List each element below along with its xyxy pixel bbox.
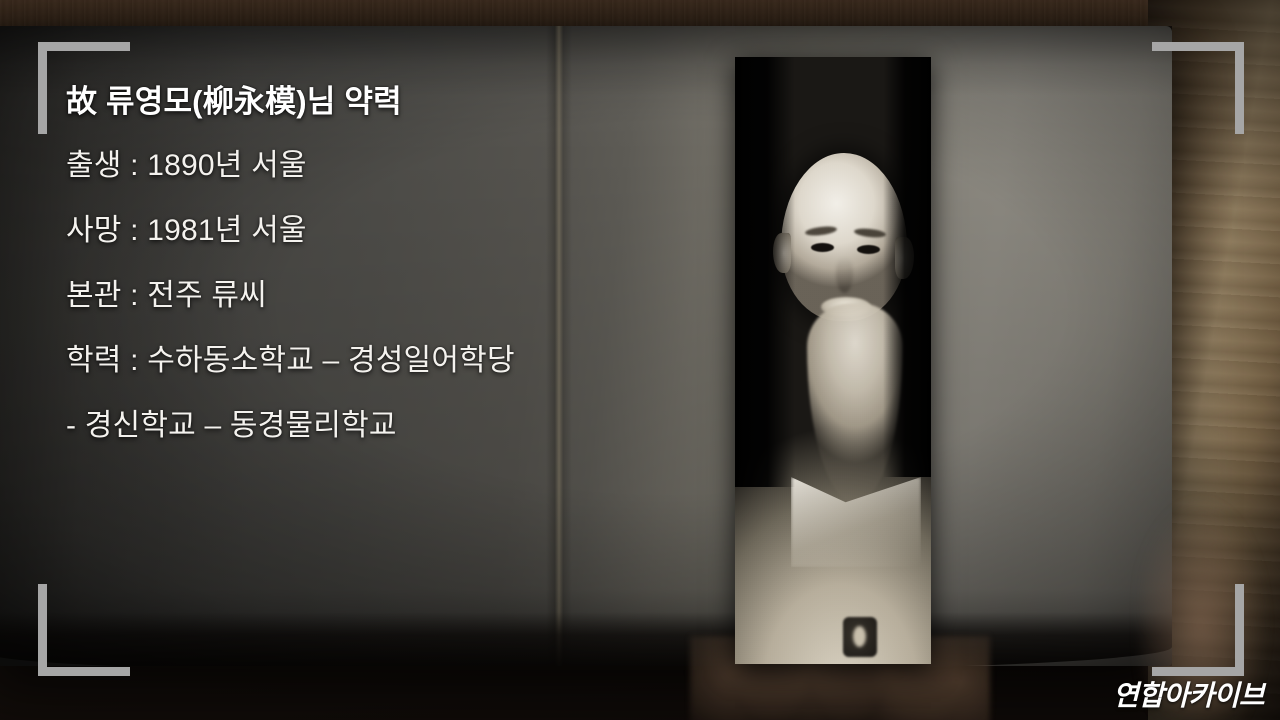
corner-bracket-top-left (38, 42, 130, 134)
corner-bracket-bottom-left (38, 584, 130, 676)
info-line-clan-origin: 본관 : 전주 류씨 (66, 270, 726, 314)
bracket-vertical-bar (38, 584, 47, 676)
corner-bracket-top-right (1152, 42, 1244, 134)
portrait-photo-body (735, 57, 931, 664)
bracket-horizontal-bar (1152, 42, 1244, 51)
bracket-vertical-bar (38, 42, 47, 134)
archive-watermark: 연합아카이브 (1113, 674, 1264, 714)
info-line-education: 학력 : 수하동소학교 – 경성일어학당 (66, 335, 726, 379)
bracket-horizontal-bar (38, 667, 130, 676)
portrait-photo (735, 57, 931, 664)
bracket-vertical-bar (1235, 42, 1244, 134)
bracket-vertical-bar (1235, 584, 1244, 676)
page-title: 故 류영모(柳永模)님 약력 (66, 76, 726, 121)
slide-canvas: 故 류영모(柳永模)님 약력 출생 : 1890년 서울 사망 : 1981년 … (0, 0, 1280, 720)
info-line-death: 사망 : 1981년 서울 (66, 205, 726, 249)
biography-text-block: 故 류영모(柳永模)님 약력 출생 : 1890년 서울 사망 : 1981년 … (66, 76, 726, 444)
info-line-education-continued: - 경신학교 – 동경물리학교 (66, 400, 726, 444)
corner-bracket-bottom-right (1152, 584, 1244, 676)
bracket-horizontal-bar (38, 42, 130, 51)
info-line-birth: 출생 : 1890년 서울 (66, 140, 726, 184)
portrait-film-grain (735, 57, 931, 664)
